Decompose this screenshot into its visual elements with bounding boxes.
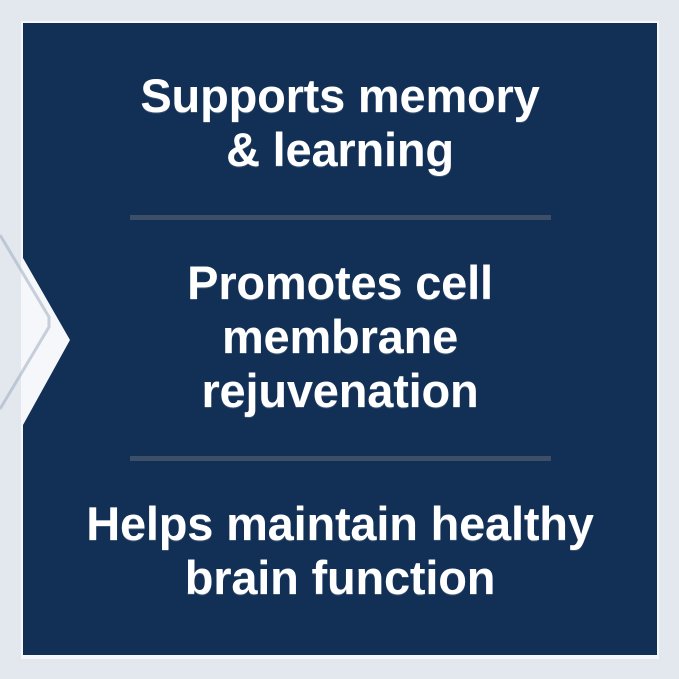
benefits-list: Supports memory & learning Promotes cell…	[23, 23, 657, 655]
benefit-divider-2	[130, 456, 551, 461]
benefit-item-2: Promotes cell membrane rejuvenation	[57, 256, 623, 418]
benefit-item-3: Helps maintain healthy brain function	[57, 497, 623, 605]
benefits-graphic: Supports memory & learning Promotes cell…	[0, 0, 679, 679]
benefit-item-1: Supports memory & learning	[57, 69, 623, 177]
benefit-divider-1	[130, 215, 551, 220]
